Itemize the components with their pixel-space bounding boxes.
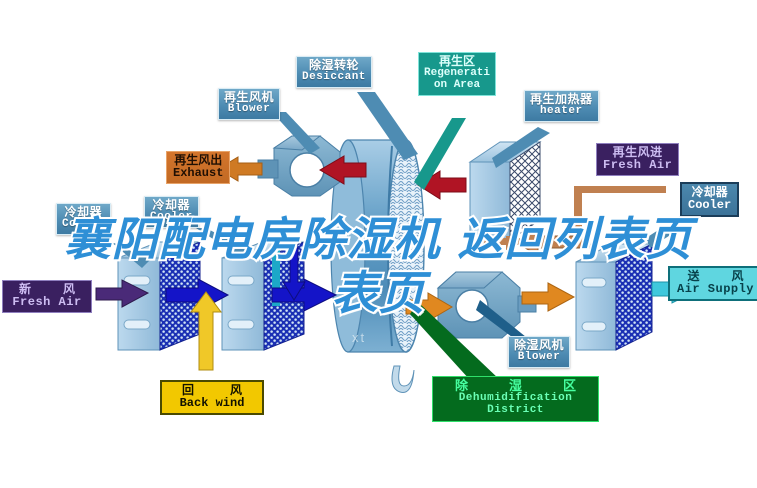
label-cooler-left-2: 冷却器 Cooler xyxy=(144,196,199,228)
desiccant-rotor xyxy=(331,140,424,393)
duct-right-top xyxy=(574,186,666,193)
duct-regen-riser xyxy=(506,236,513,258)
label-regeneration-area: 再生区 Regenerati on Area xyxy=(418,52,496,96)
label-cooler-right: 冷却器 Cooler xyxy=(680,182,739,217)
schematic-graphics xyxy=(0,0,757,488)
label-back-wind: 回 风 Back wind xyxy=(160,380,264,415)
cooler-unit-right xyxy=(576,244,652,350)
label-fresh-air: 新 风 Fresh Air xyxy=(2,280,92,313)
dehum-blower xyxy=(438,272,536,338)
label-dehumidification-district: 除 湿 区 Dehumidification District xyxy=(432,376,599,422)
label-regen-fresh-air: 再生风进 Fresh Air xyxy=(596,143,679,176)
dehumidifier-schematic: xt 除湿转轮 Desiccant 再生风机 Blower 再生区 Regene… xyxy=(0,0,757,488)
label-regen-heater: 再生加热器 heater xyxy=(524,90,599,122)
label-dehum-blower: 除湿风机 Blower xyxy=(508,336,570,368)
label-air-supply: 送 风 Air Supply xyxy=(668,266,757,301)
label-exhaust: 再生风出 Exhaust xyxy=(166,151,230,184)
leader-cooler-left-2 xyxy=(196,228,252,259)
label-cooler-left-1: 冷却器 Cooler xyxy=(56,203,111,235)
label-desiccant-rotor: 除湿转轮 Desiccant xyxy=(296,56,372,88)
leader-cooler-right xyxy=(646,212,694,248)
label-regen-blower: 再生风机 Blower xyxy=(218,88,280,120)
